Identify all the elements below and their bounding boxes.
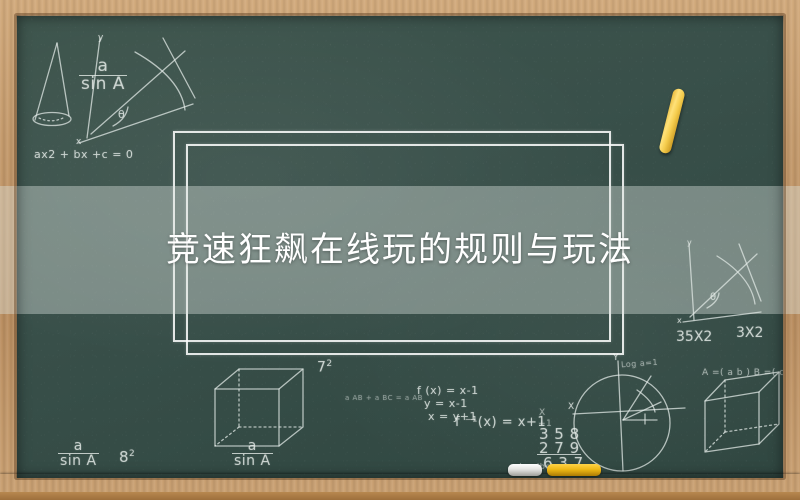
ledge-lip (0, 492, 800, 500)
frame-inner-shadow (16, 15, 784, 478)
screenshot-root: a sin A y x θ ax2 + bx +c = 0 y x θ 35X2… (0, 0, 800, 500)
